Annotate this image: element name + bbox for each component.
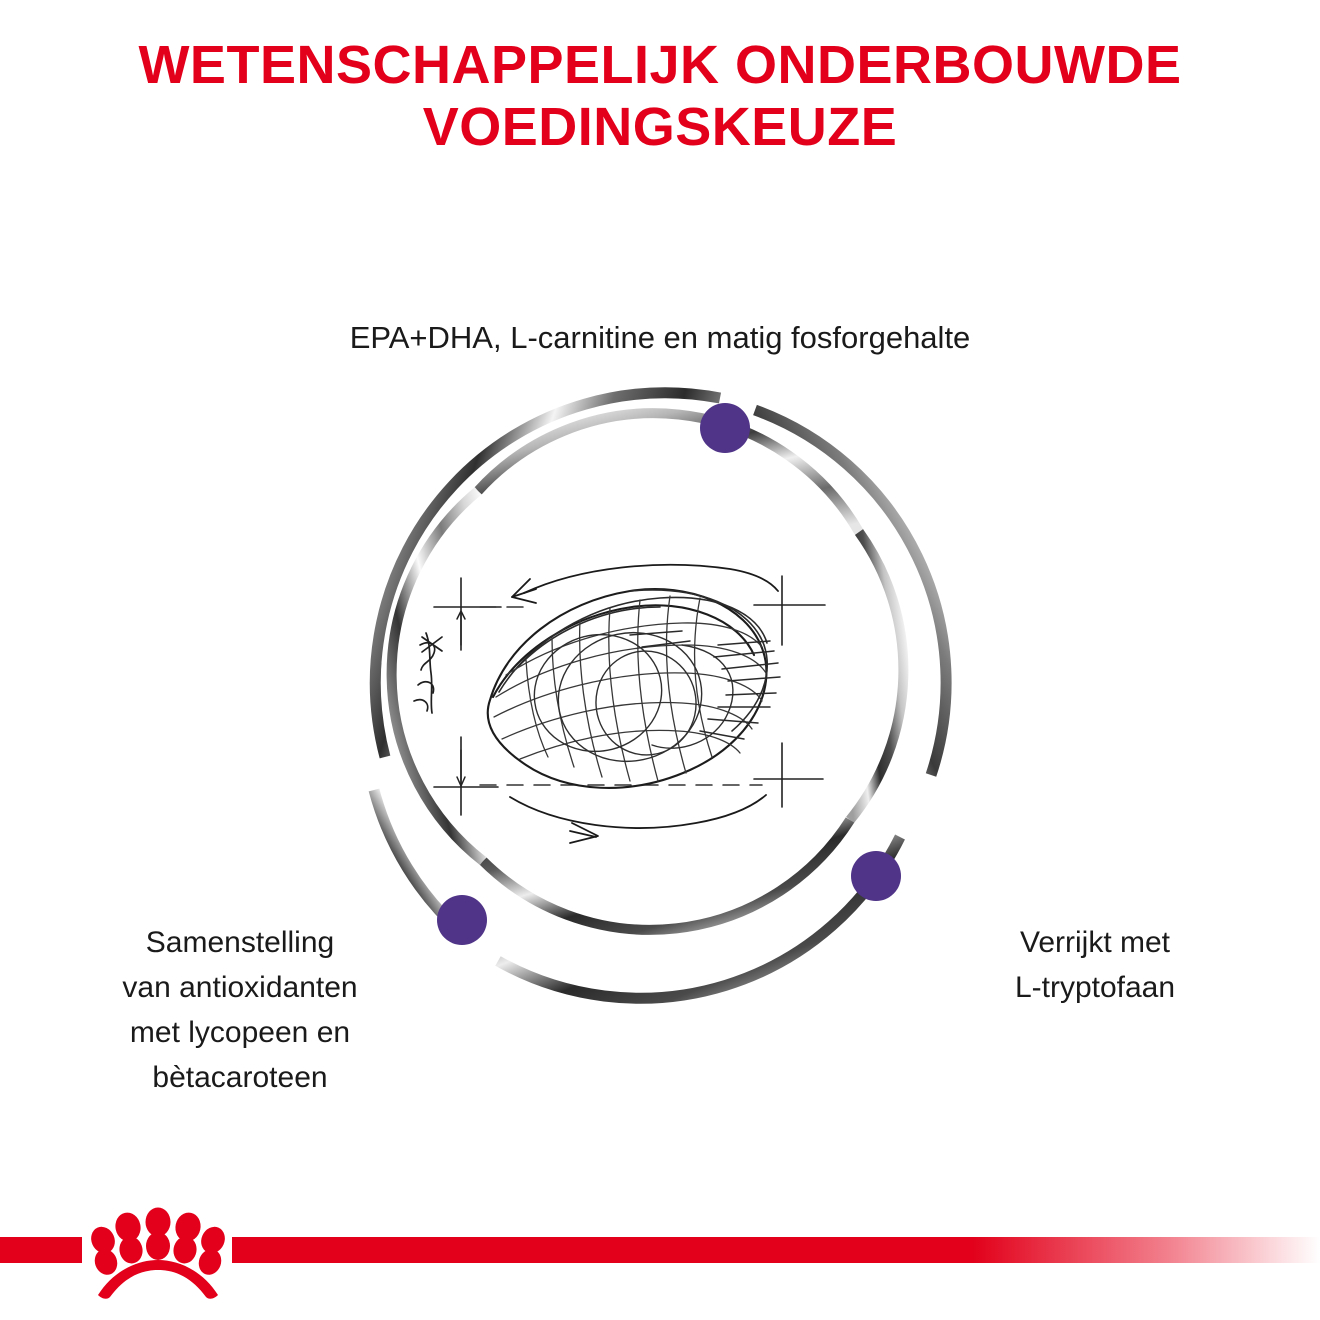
inner-arc-bottom <box>483 820 850 930</box>
benefit-dot-right[interactable] <box>851 851 901 901</box>
kibble-outline <box>488 589 767 788</box>
callout-left-line-3: met lycopeen en <box>50 1010 430 1055</box>
kibble-top-contours <box>499 590 767 731</box>
kibble-construction-loops <box>522 619 733 774</box>
royal-canin-crown-icon <box>88 1202 228 1302</box>
page-root: WETENSCHAPPELIJK ONDERBOUWDE VOEDINGSKEU… <box>0 0 1320 1320</box>
inner-arc-right <box>850 532 903 820</box>
footer <box>0 1190 1320 1320</box>
benefit-dot-left[interactable] <box>437 895 487 945</box>
height-dimension <box>457 611 465 786</box>
outer-arc-right <box>755 410 946 775</box>
kibble-wireframe-vertical <box>526 596 712 781</box>
page-title-line-2: VOEDINGSKEUZE <box>0 96 1320 158</box>
inner-ring <box>392 413 904 930</box>
kibble-shading <box>630 631 780 739</box>
kibble-sketch-icon <box>414 565 825 843</box>
outer-arc-bottom-right <box>498 837 900 998</box>
footer-bar-right <box>232 1237 1320 1263</box>
page-title: WETENSCHAPPELIJK ONDERBOUWDE VOEDINGSKEU… <box>0 34 1320 158</box>
page-title-line-1: WETENSCHAPPELIJK ONDERBOUWDE <box>0 34 1320 96</box>
nutrition-ring-diagram <box>330 345 990 1005</box>
handwritten-note <box>414 633 442 713</box>
callout-left-line-4: bètacaroteen <box>50 1055 430 1100</box>
benefit-dot-top[interactable] <box>700 403 750 453</box>
footer-bar-left <box>0 1237 82 1263</box>
